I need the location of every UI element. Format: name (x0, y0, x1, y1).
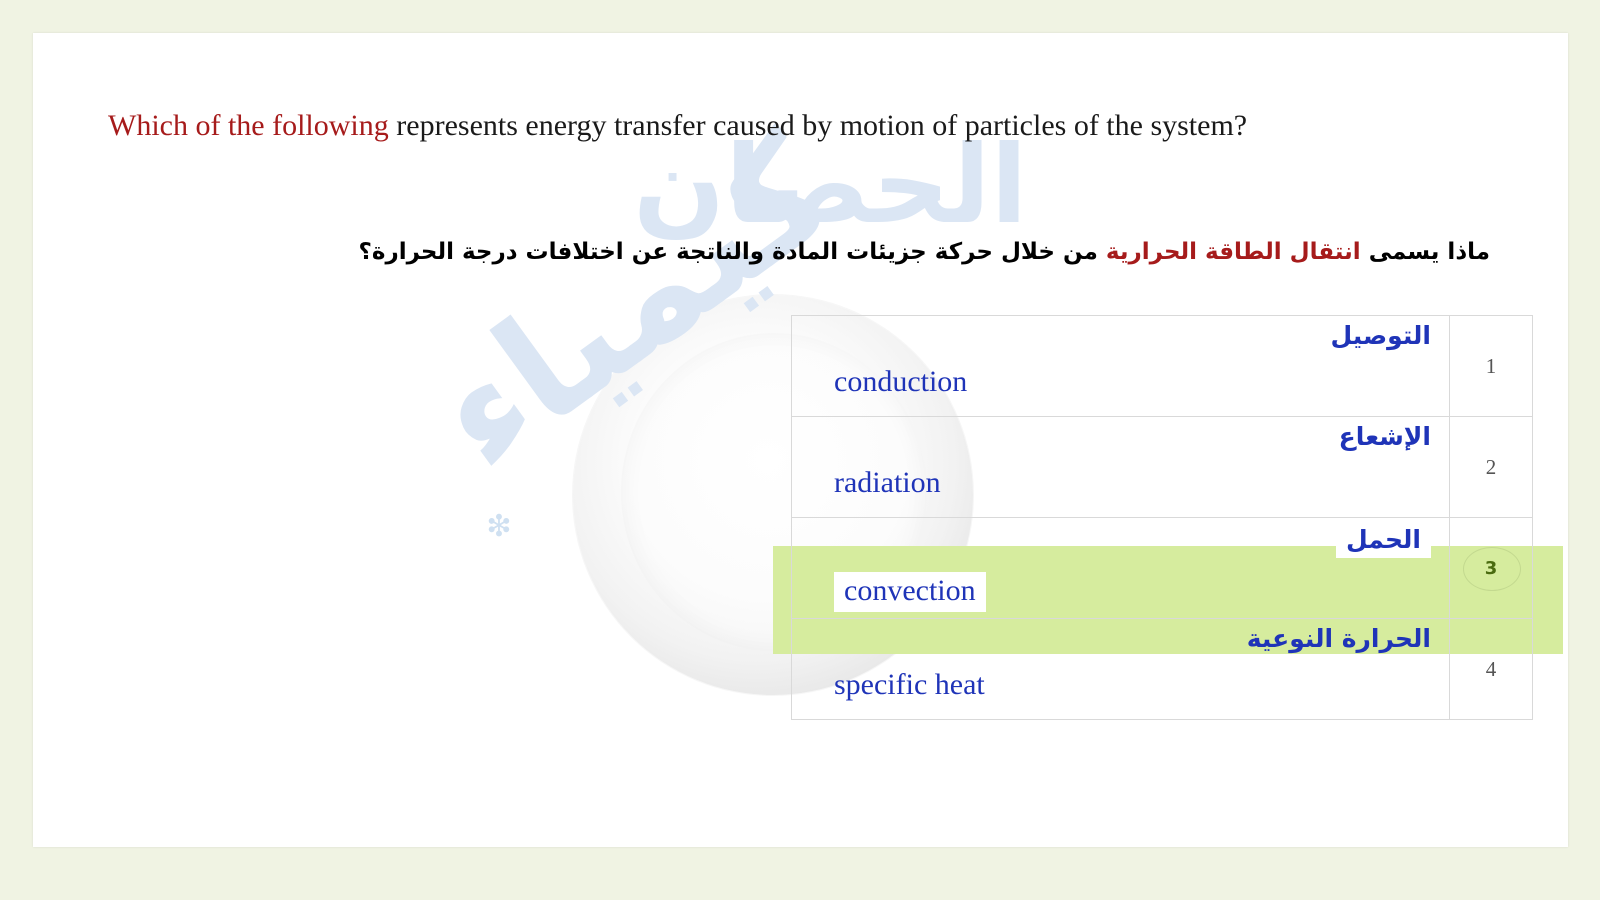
option-english-4: specific heat (792, 654, 1449, 701)
option-english-3-text: convection (834, 572, 986, 612)
option-arabic-3: الحمل (792, 518, 1449, 558)
option-number-cell-1: 1 (1450, 316, 1533, 417)
option-english-3: convection (792, 558, 1449, 612)
question-text-english: Which of the following represents energy… (108, 105, 1450, 148)
option-number-cell-3: 3 (1450, 518, 1533, 619)
option-english-1: conduction (792, 351, 1449, 398)
option-number-cell-2: 2 (1450, 417, 1533, 518)
question-text-arabic: ماذا يسمى انتقال الطاقة الحرارية من خلال… (230, 236, 1490, 269)
table-row[interactable]: التوصيل conduction 1 (792, 316, 1533, 417)
option-cell-4[interactable]: الحرارة النوعية specific heat (792, 619, 1450, 720)
option-arabic-1: التوصيل (792, 316, 1449, 351)
snowflake-icon: ❇ (485, 513, 513, 541)
option-number-4: 4 (1450, 657, 1532, 682)
answer-options-table: التوصيل conduction 1 الإشعاع radiation 2 (791, 315, 1533, 720)
question-arabic-rest: من خلال حركة جزيئات المادة والناتجة عن ا… (359, 239, 1106, 265)
question-english-highlight: Which of the following (108, 109, 389, 142)
option-number-cell-4: 4 (1450, 619, 1533, 720)
option-number-3: 3 (1450, 558, 1532, 579)
question-arabic-highlight: انتقال الطاقة الحرارية (1106, 239, 1361, 265)
table-row[interactable]: الحرارة النوعية specific heat 4 (792, 619, 1533, 720)
option-arabic-3-text: الحمل (1336, 524, 1431, 558)
option-number-2: 2 (1450, 455, 1532, 480)
option-cell-3[interactable]: الحمل convection (792, 518, 1450, 619)
table-row[interactable]: الإشعاع radiation 2 (792, 417, 1533, 518)
option-cell-1[interactable]: التوصيل conduction (792, 316, 1450, 417)
option-cell-2[interactable]: الإشعاع radiation (792, 417, 1450, 518)
table-row-selected[interactable]: الحمل convection 3 (792, 518, 1533, 619)
slide-card: الحصان كيمياء ❇ Which of the following r… (33, 33, 1568, 847)
option-number-1: 1 (1450, 354, 1532, 379)
question-arabic-lead: ماذا يسمى (1361, 239, 1490, 265)
option-english-2: radiation (792, 452, 1449, 499)
question-english-rest: represents energy transfer caused by mot… (389, 109, 1247, 142)
option-arabic-4: الحرارة النوعية (792, 619, 1449, 654)
option-arabic-2: الإشعاع (792, 417, 1449, 452)
